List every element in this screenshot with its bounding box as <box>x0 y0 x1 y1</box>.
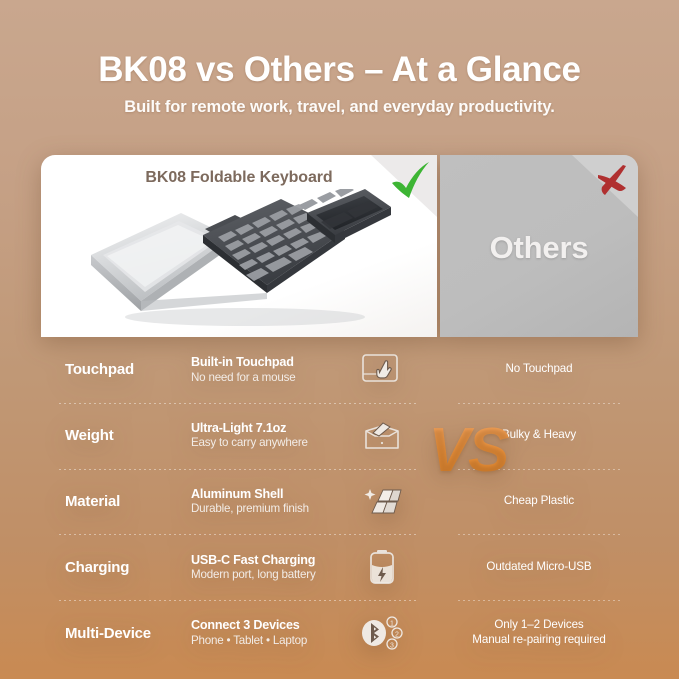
others-value-rows: No Touchpad Bulky & Heavy Cheap Plastic … <box>440 337 638 666</box>
svg-text:1: 1 <box>390 621 394 628</box>
others-badge-ribbon <box>572 155 638 217</box>
feature-row: Material Aluminum Shell Durable, premium… <box>41 469 437 535</box>
page-header: BK08 vs Others – At a Glance Built for r… <box>0 52 679 117</box>
feature-value: Built-in Touchpad No need for a mouse <box>191 355 351 384</box>
red-cross-icon <box>590 160 634 202</box>
others-value: No Touchpad <box>440 362 638 377</box>
feature-label: Material <box>41 493 191 510</box>
product-column: BK08 Foldable Keyboard <box>41 155 437 666</box>
feature-row: Multi-Device Connect 3 Devices Phone • T… <box>41 600 437 666</box>
feature-value-main: USB-C Fast Charging <box>191 553 351 567</box>
green-check-icon <box>387 160 433 204</box>
page-title: BK08 vs Others – At a Glance <box>0 52 679 89</box>
feature-label: Weight <box>41 427 191 444</box>
bluetooth-three-devices-icon: 1 2 3 <box>358 614 406 652</box>
others-value: Cheap Plastic <box>440 494 638 509</box>
feature-value-main: Ultra-Light 7.1oz <box>191 421 351 435</box>
others-row: Only 1–2 Devices Manual re-pairing requi… <box>440 600 638 666</box>
battery-bolt-icon <box>365 548 399 586</box>
others-heading: Others <box>440 230 638 266</box>
others-column: Others No Touchpad Bulky & Heavy Cheap P… <box>440 155 638 666</box>
others-value-line1: Only 1–2 Devices <box>448 618 630 633</box>
feature-value-sub: Phone • Tablet • Laptop <box>191 634 351 648</box>
others-hero: Others <box>440 155 638 337</box>
product-badge-ribbon <box>371 155 437 217</box>
feature-label: Touchpad <box>41 361 191 378</box>
feature-value-sub: Durable, premium finish <box>191 502 351 516</box>
feature-value-main: Connect 3 Devices <box>191 618 351 632</box>
feature-row: Weight Ultra-Light 7.1oz Easy to carry a… <box>41 403 437 469</box>
feature-value-sub: Modern port, long battery <box>191 568 351 582</box>
vs-badge: VS <box>409 420 527 482</box>
feature-value: USB-C Fast Charging Modern port, long ba… <box>191 553 351 582</box>
feature-row: Touchpad Built-in Touchpad No need for a… <box>41 337 437 403</box>
feature-label: Charging <box>41 559 191 576</box>
product-feature-rows: Touchpad Built-in Touchpad No need for a… <box>41 337 437 666</box>
feather-box-icon <box>361 419 403 453</box>
svg-text:2: 2 <box>395 632 399 639</box>
feature-value: Connect 3 Devices Phone • Tablet • Lapto… <box>191 618 351 647</box>
others-row: No Touchpad <box>440 337 638 403</box>
comparison-card: BK08 Foldable Keyboard <box>41 155 638 666</box>
feature-icon-slot <box>351 419 413 453</box>
feature-value-main: Built-in Touchpad <box>191 355 351 369</box>
feature-icon-slot <box>351 483 413 519</box>
others-value: Only 1–2 Devices Manual re-pairing requi… <box>440 618 638 648</box>
feature-icon-slot <box>351 548 413 586</box>
others-value: Outdated Micro-USB <box>440 560 638 575</box>
feature-icon-slot: 1 2 3 <box>351 614 413 652</box>
feature-row: Charging USB-C Fast Charging Modern port… <box>41 534 437 600</box>
feature-label: Multi-Device <box>41 625 191 642</box>
feature-value-sub: Easy to carry anywhere <box>191 436 351 450</box>
feature-value-main: Aluminum Shell <box>191 487 351 501</box>
metal-ingots-icon <box>360 483 404 519</box>
others-row: Outdated Micro-USB <box>440 534 638 600</box>
touchpad-hand-icon <box>361 353 403 387</box>
feature-value-sub: No need for a mouse <box>191 371 351 385</box>
foldable-keyboard-image <box>85 189 395 329</box>
feature-icon-slot <box>351 353 413 387</box>
others-value-line2: Manual re-pairing required <box>448 633 630 648</box>
svg-text:3: 3 <box>390 643 394 650</box>
product-hero: BK08 Foldable Keyboard <box>41 155 437 337</box>
feature-value: Ultra-Light 7.1oz Easy to carry anywhere <box>191 421 351 450</box>
feature-value: Aluminum Shell Durable, premium finish <box>191 487 351 516</box>
page-subtitle: Built for remote work, travel, and every… <box>0 98 679 117</box>
